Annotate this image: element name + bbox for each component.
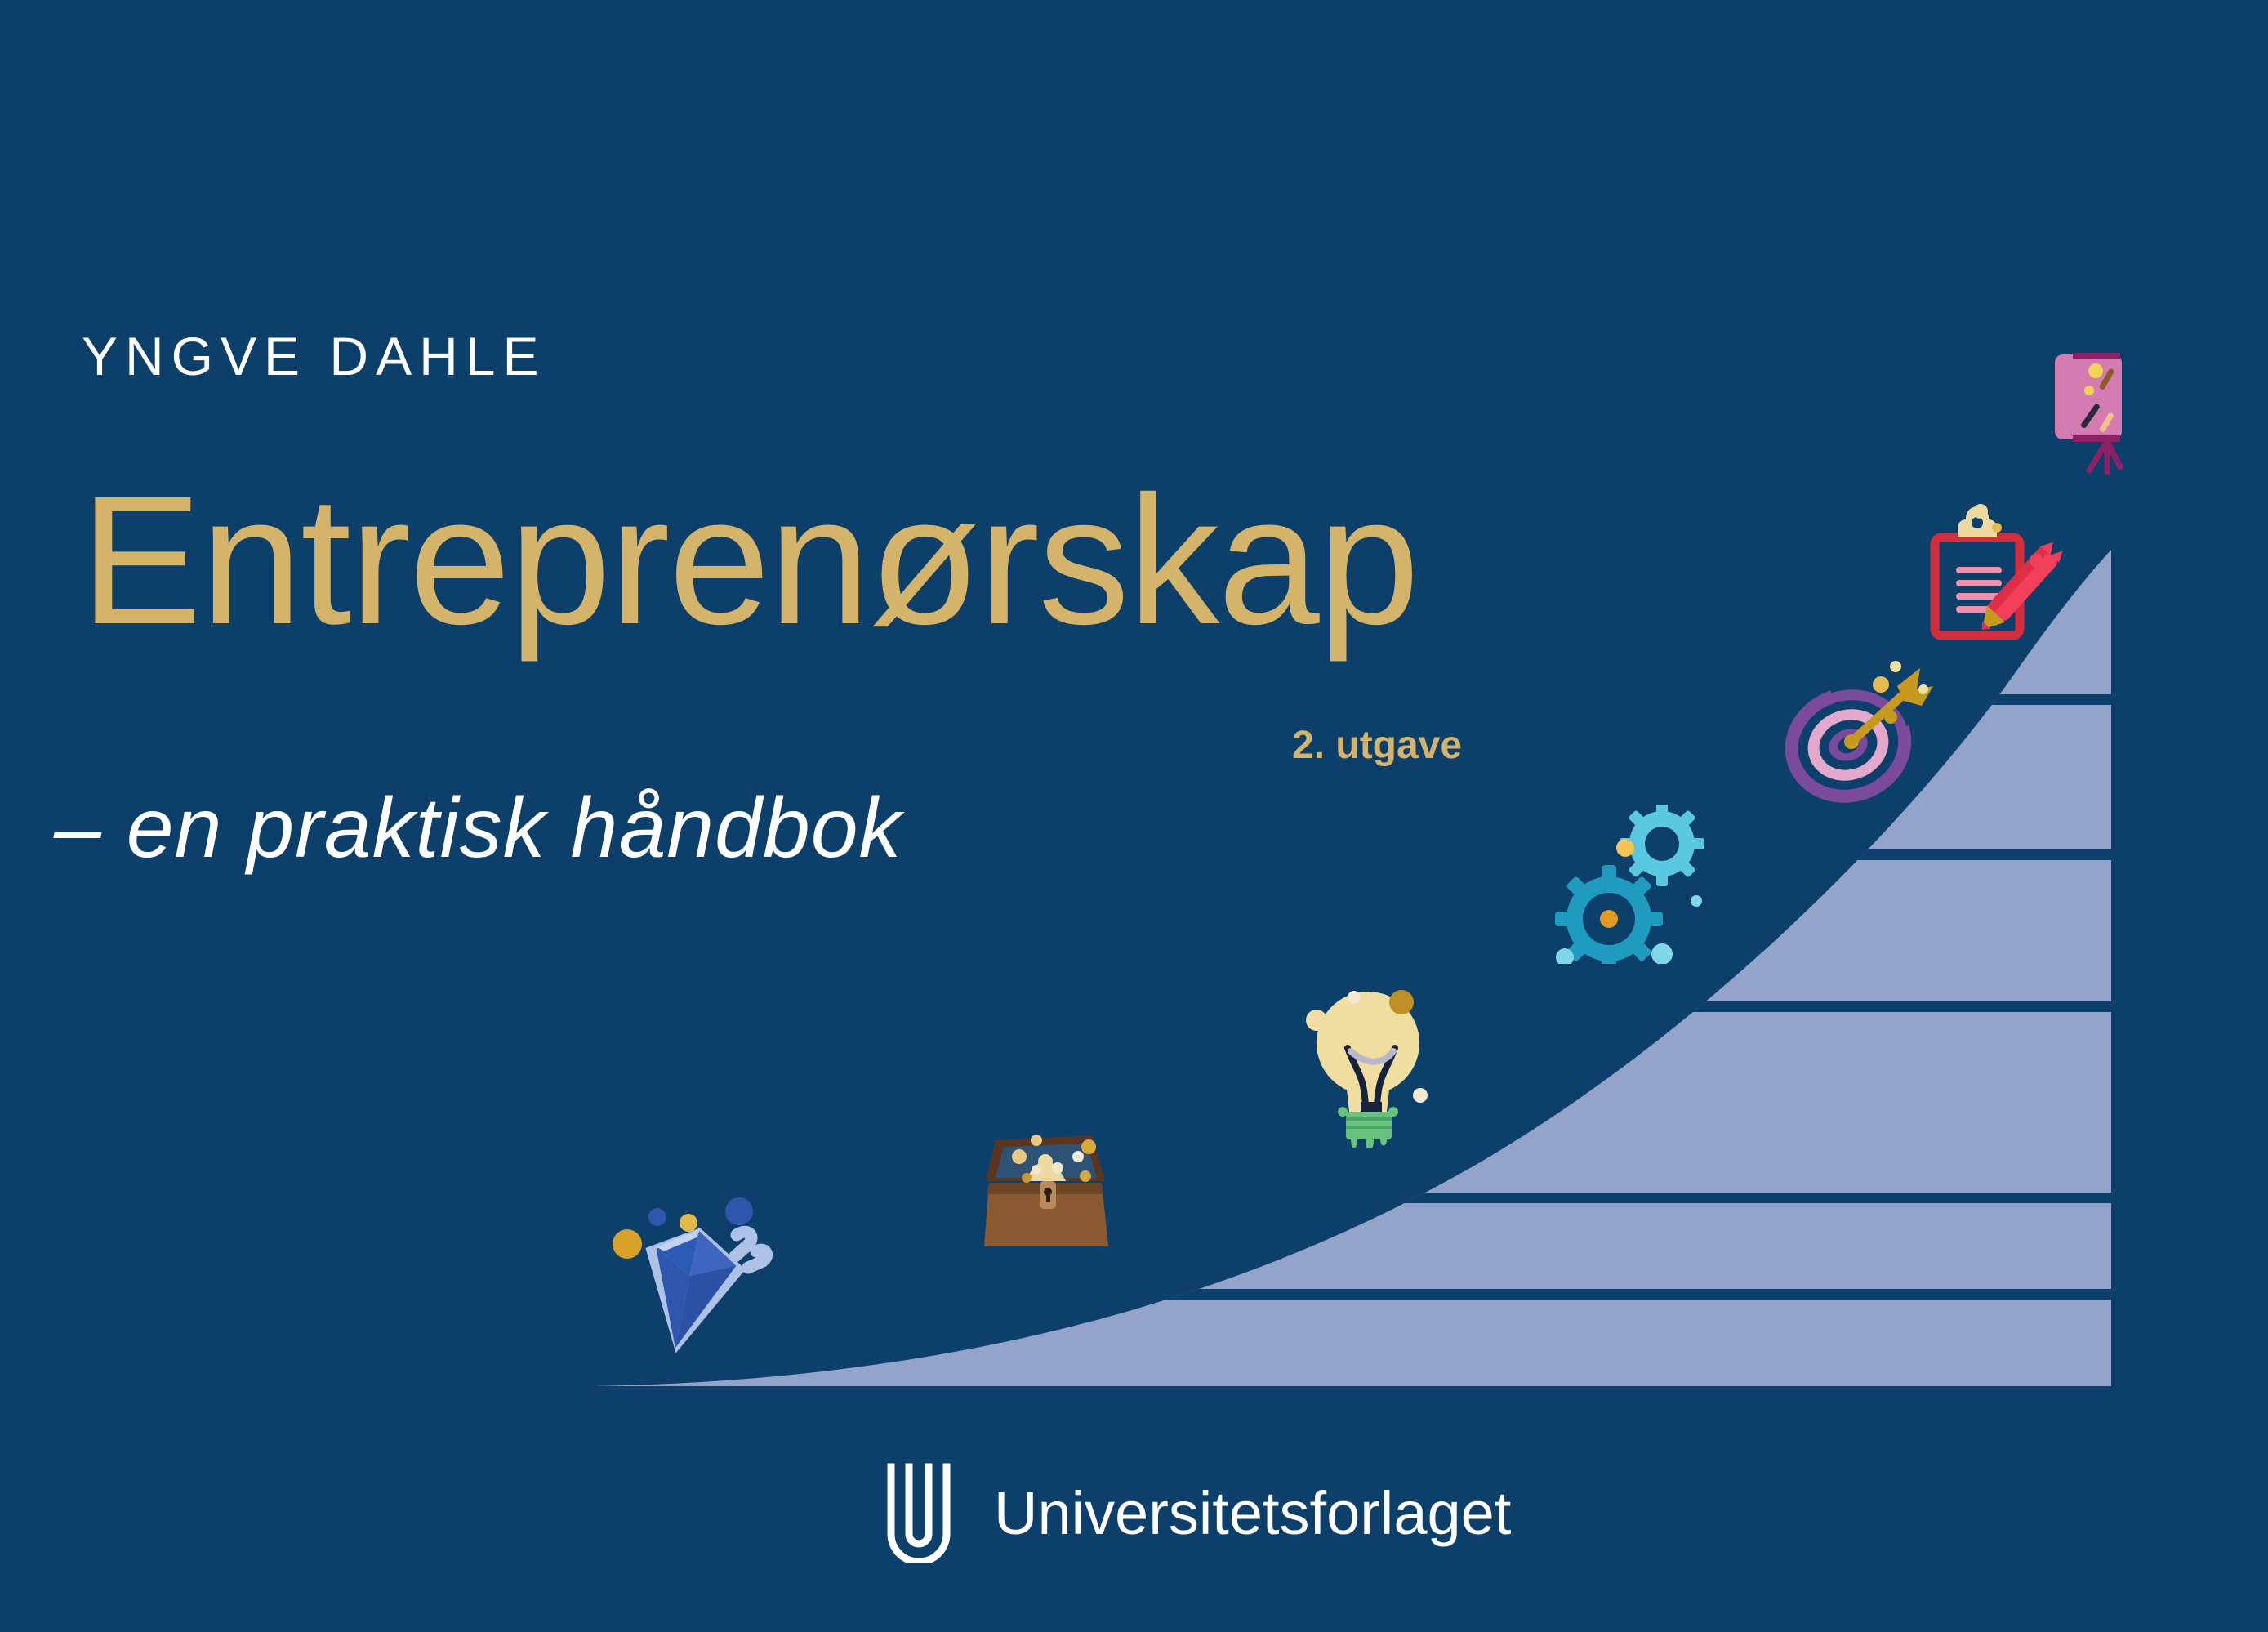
treasure-chest-icon (968, 1111, 1131, 1258)
gears-icon (1535, 805, 1711, 964)
clipboard-pencil-icon (1915, 490, 2087, 666)
book-cover: YNGVE DAHLE Entreprenørskap 2. utgave – … (0, 0, 2268, 1632)
target-dart-icon (1760, 653, 1948, 837)
publisher-block: Universitetsforlaget (884, 1462, 1511, 1563)
author-name: YNGVE DAHLE (82, 325, 546, 387)
flipchart-icon (2042, 327, 2185, 490)
book-subtitle: – en praktisk håndbok (54, 780, 902, 877)
lightbulb-icon (1282, 952, 1454, 1148)
publisher-name: Universitetsforlaget (994, 1478, 1511, 1548)
edition-badge: 2. utgave (1292, 723, 1462, 768)
universitetsforlaget-u-logo-icon (884, 1462, 963, 1563)
book-title: Entreprenørskap (80, 469, 1418, 652)
diamond-gem-icon (596, 1176, 784, 1364)
